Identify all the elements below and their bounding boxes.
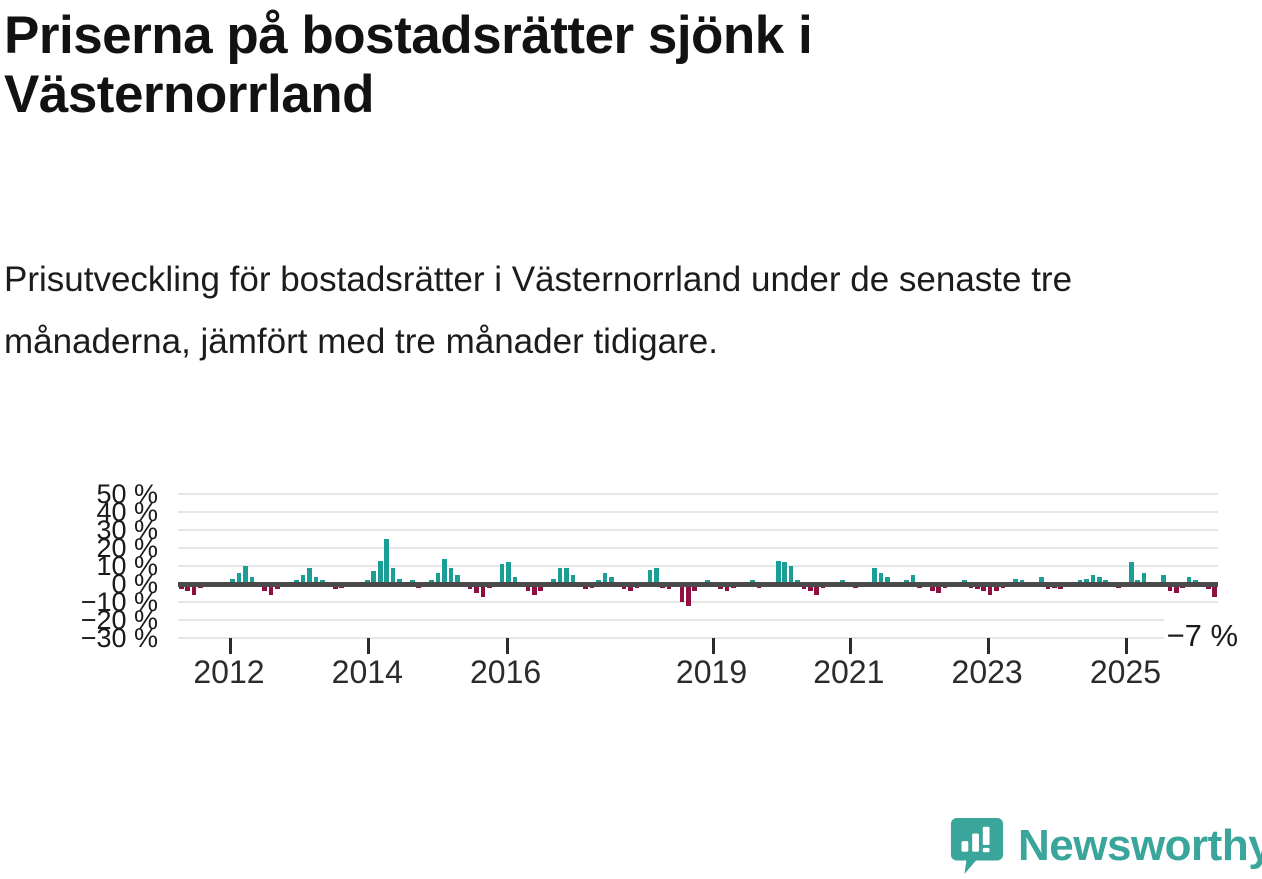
chart-bar [782,562,787,584]
gridline [178,493,1218,495]
newsworthy-logo: Newsworthy [950,818,1262,874]
gridline [178,601,1218,603]
chart-bar [500,564,505,584]
chart-bar [384,539,389,584]
chart-plot-area [178,494,1218,638]
chart-bar [506,562,511,584]
x-axis-tick-label: 2014 [332,656,403,688]
gridline [178,529,1218,531]
gridline [178,565,1218,567]
zero-baseline [178,582,1218,587]
x-axis-tick-label: 2016 [470,656,541,688]
last-value-annotation: −7 % [1164,618,1242,653]
x-axis-tick [367,638,370,654]
x-axis: 2012201420162019202120232025 [178,638,1218,708]
page-title: Priserna på bostadsrätter sjönk i Väster… [4,6,1104,125]
gridline [178,547,1218,549]
x-axis-tick-label: 2012 [193,656,264,688]
chart-bar [1129,562,1134,584]
y-axis-tick-label: −30 % [81,625,158,652]
x-axis-tick [849,638,852,654]
chart-bar [776,561,781,584]
x-axis-tick [506,638,509,654]
price-change-bar-chart: 50 %40 %30 %20 %10 %0 %−10 %−20 %−30 % 2… [0,480,1262,710]
x-axis-tick-label: 2021 [813,656,884,688]
x-axis-tick-label: 2019 [676,656,747,688]
newsworthy-bar-chart-bubble-icon [950,818,1004,874]
logo-wordmark: Newsworthy [1018,824,1262,868]
x-axis-tick-label: 2025 [1090,656,1161,688]
x-axis-tick [1125,638,1128,654]
y-axis-labels: 50 %40 %30 %20 %10 %0 %−10 %−20 %−30 % [0,480,172,655]
x-axis-tick [987,638,990,654]
chart-bar [442,559,447,584]
gridline [178,619,1218,621]
x-axis-tick-label: 2023 [952,656,1023,688]
x-axis-tick [229,638,232,654]
chart-bar [378,561,383,584]
x-axis-tick [712,638,715,654]
chart-bar [686,584,691,606]
gridline [178,511,1218,513]
page-subtitle: Prisutveckling för bostadsrätter i Väste… [4,249,1259,374]
